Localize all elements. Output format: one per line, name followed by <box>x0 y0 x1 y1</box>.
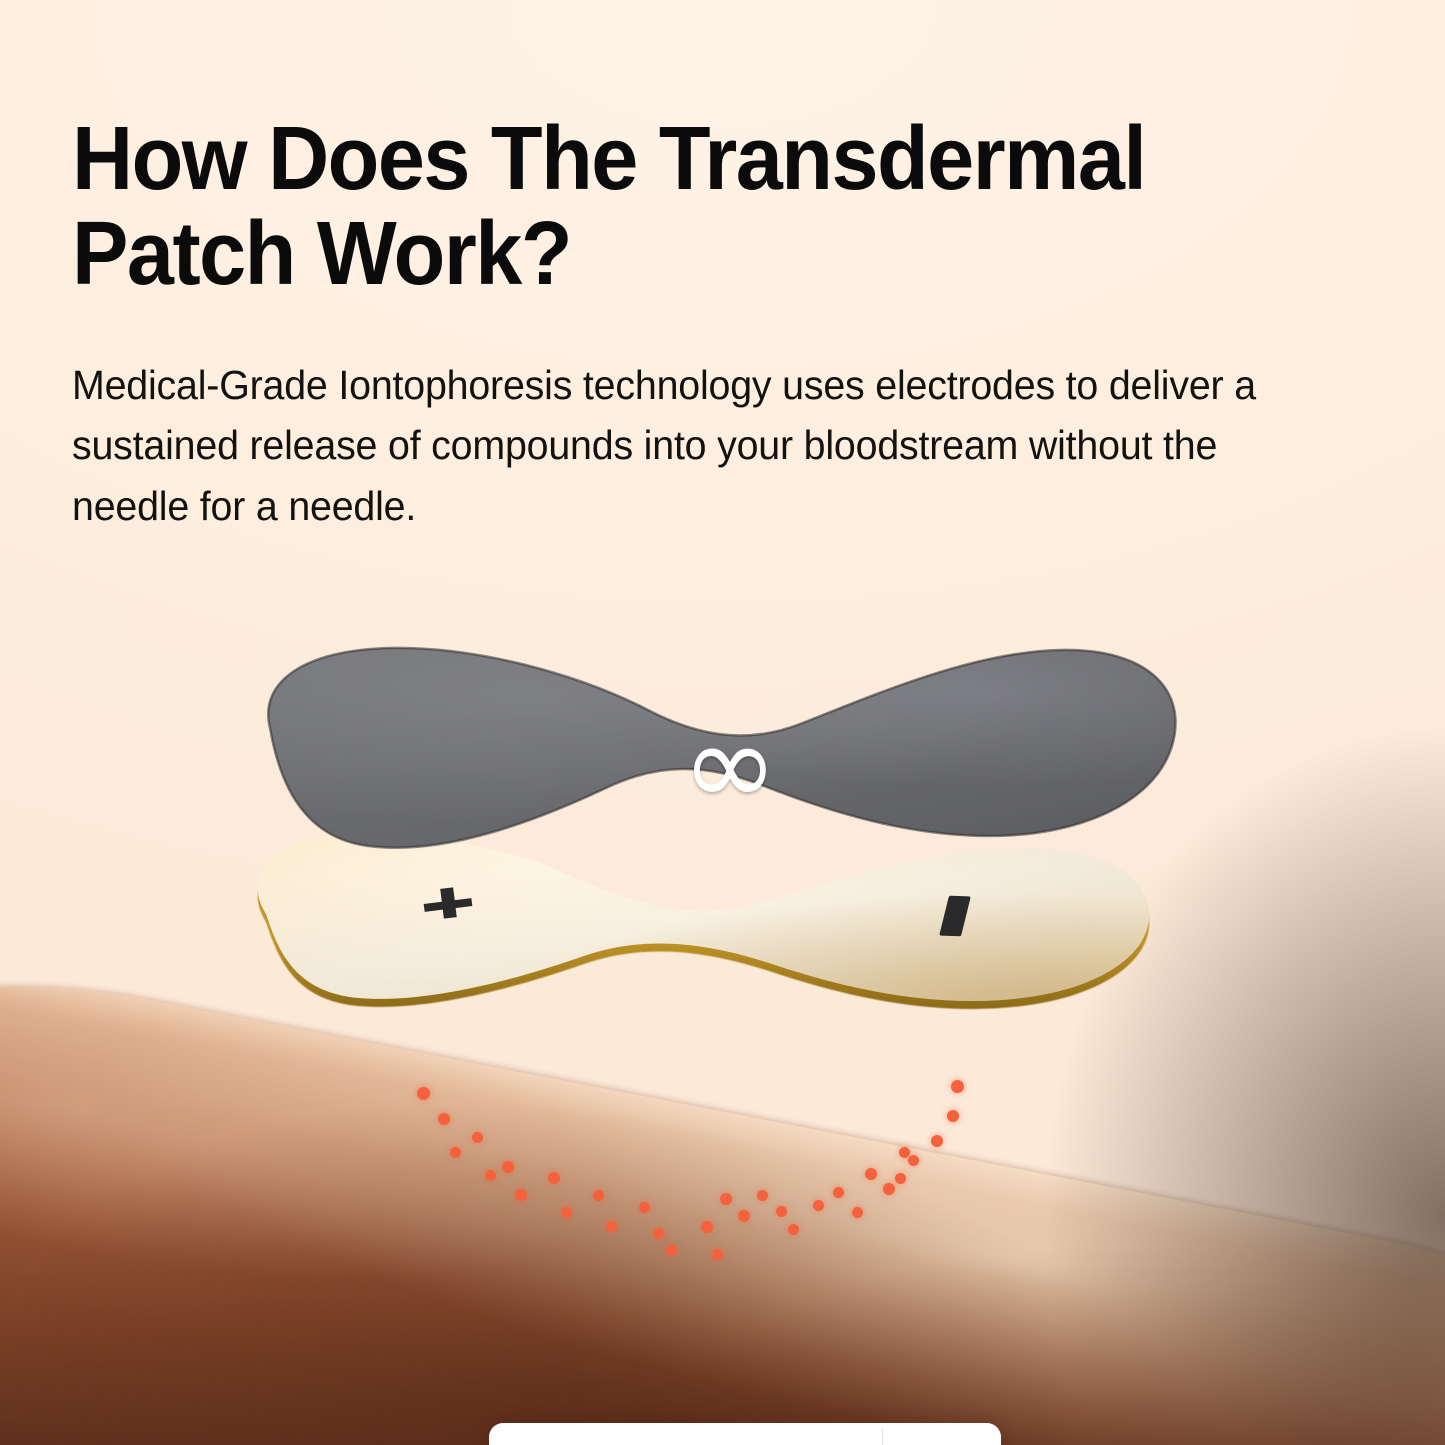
promo-card: How Does The Transdermal Patch Work? Med… <box>0 0 1445 1445</box>
positive-electrode <box>424 884 472 926</box>
page-description: Medical-Grade Iontophoresis technology u… <box>72 303 1282 537</box>
card-divider <box>882 1429 883 1445</box>
page-title: How Does The Transdermal Patch Work? <box>72 0 1256 303</box>
text-block: How Does The Transdermal Patch Work? Med… <box>72 0 1332 537</box>
bottom-card[interactable] <box>489 1423 1001 1445</box>
infinity-logo-icon: ∞ <box>655 718 805 814</box>
